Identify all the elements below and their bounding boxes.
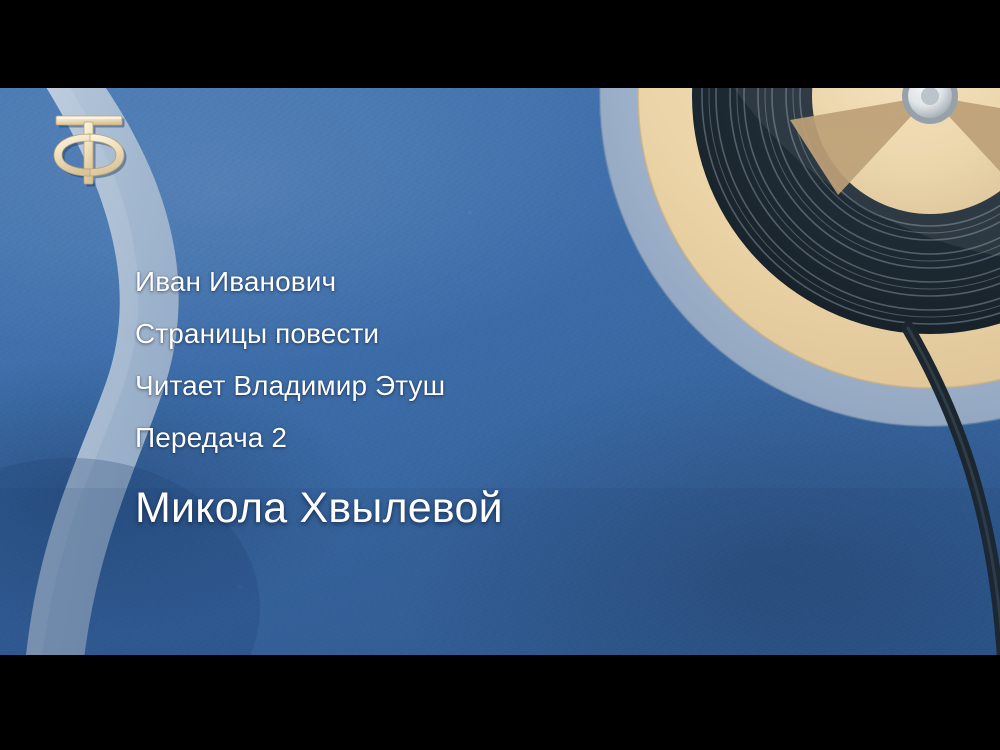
line-format: Страницы повести xyxy=(135,308,775,360)
letterbox-bar-top xyxy=(0,0,1000,88)
overlay-text-block: Иван Иванович Страницы повести Читает Вл… xyxy=(135,256,775,534)
screenshot-stage: Иван Иванович Страницы повести Читает Вл… xyxy=(0,0,1000,750)
line-performer: Читает Владимир Этуш xyxy=(135,360,775,412)
line-episode: Передача 2 xyxy=(135,412,775,464)
line-work-title: Иван Иванович xyxy=(135,256,775,308)
headline-author: Микола Хвылевой xyxy=(135,482,775,534)
letterbox-bar-bottom xyxy=(0,655,1000,750)
logo-monogram-tf xyxy=(54,116,127,187)
video-frame[interactable]: Иван Иванович Страницы повести Читает Вл… xyxy=(0,88,1000,655)
teleradiofond-logo-icon xyxy=(48,108,140,194)
